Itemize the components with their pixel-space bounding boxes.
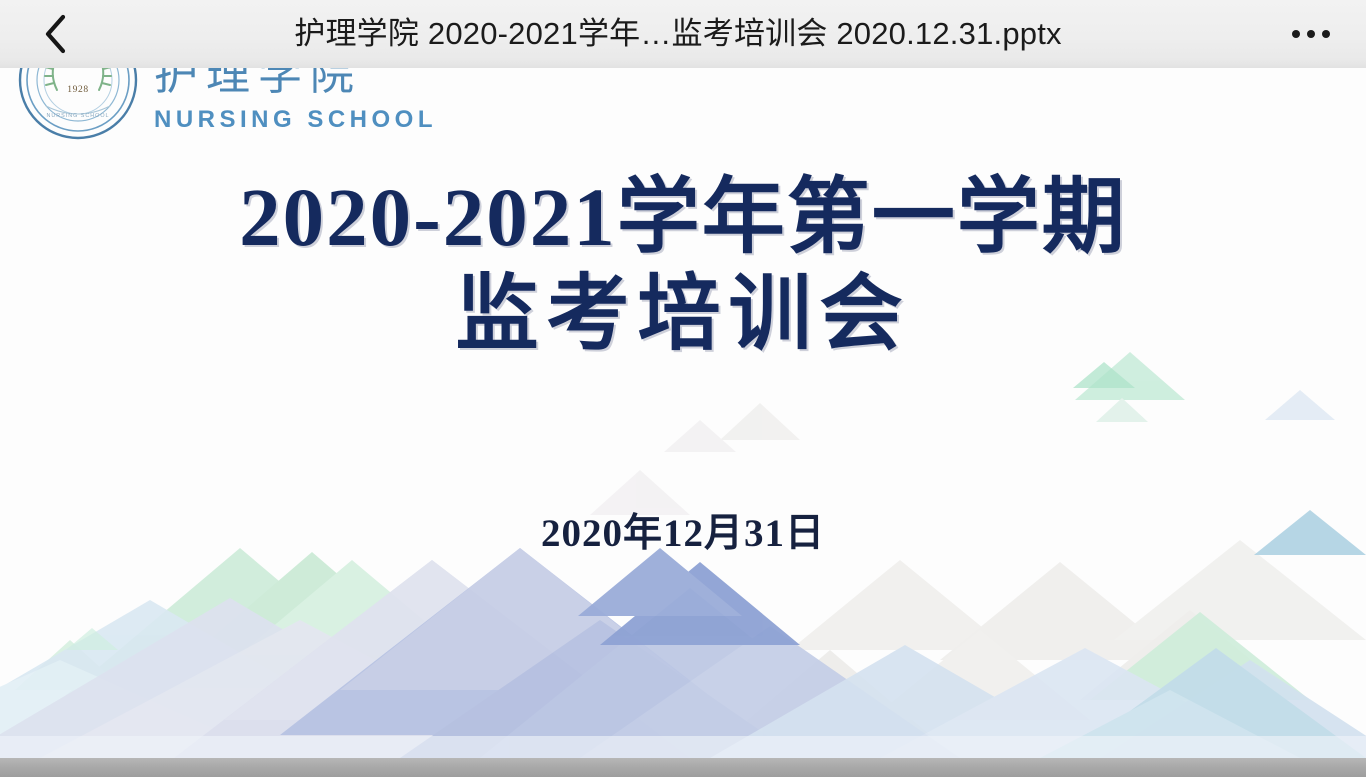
slide-viewer[interactable]: 1928 NURSING SCHOOL 护理学院 NURSING SCHOOL …	[0, 0, 1366, 758]
slide-canvas[interactable]: 1928 NURSING SCHOOL 护理学院 NURSING SCHOOL …	[0, 0, 1366, 758]
slide-subtitle-date: 2020年12月31日	[0, 502, 1366, 558]
svg-text:NURSING SCHOOL: NURSING SCHOOL	[46, 113, 109, 119]
logo-name-en: NURSING SCHOOL	[154, 106, 437, 134]
more-horizontal-icon-dot-3	[1322, 30, 1330, 38]
svg-text:1928: 1928	[67, 85, 88, 95]
document-title: 护理学院 2020-2021学年…监考培训会 2020.12.31.pptx	[82, 17, 1282, 51]
more-horizontal-icon-dot-1	[1292, 30, 1300, 38]
more-horizontal-icon-dot-2	[1307, 30, 1315, 38]
app-header-bar: 护理学院 2020-2021学年…监考培训会 2020.12.31.pptx	[0, 0, 1366, 68]
slide-title: 2020-2021学年第一学期 监考培训会	[0, 176, 1366, 356]
back-button[interactable]	[30, 8, 82, 60]
slide-title-line-1: 2020-2021学年第一学期	[0, 176, 1366, 259]
more-options-button[interactable]	[1282, 8, 1340, 60]
system-navigation-bar	[0, 758, 1366, 777]
slide-title-line-2: 监考培训会	[0, 273, 1366, 356]
chevron-left-icon	[43, 13, 69, 55]
